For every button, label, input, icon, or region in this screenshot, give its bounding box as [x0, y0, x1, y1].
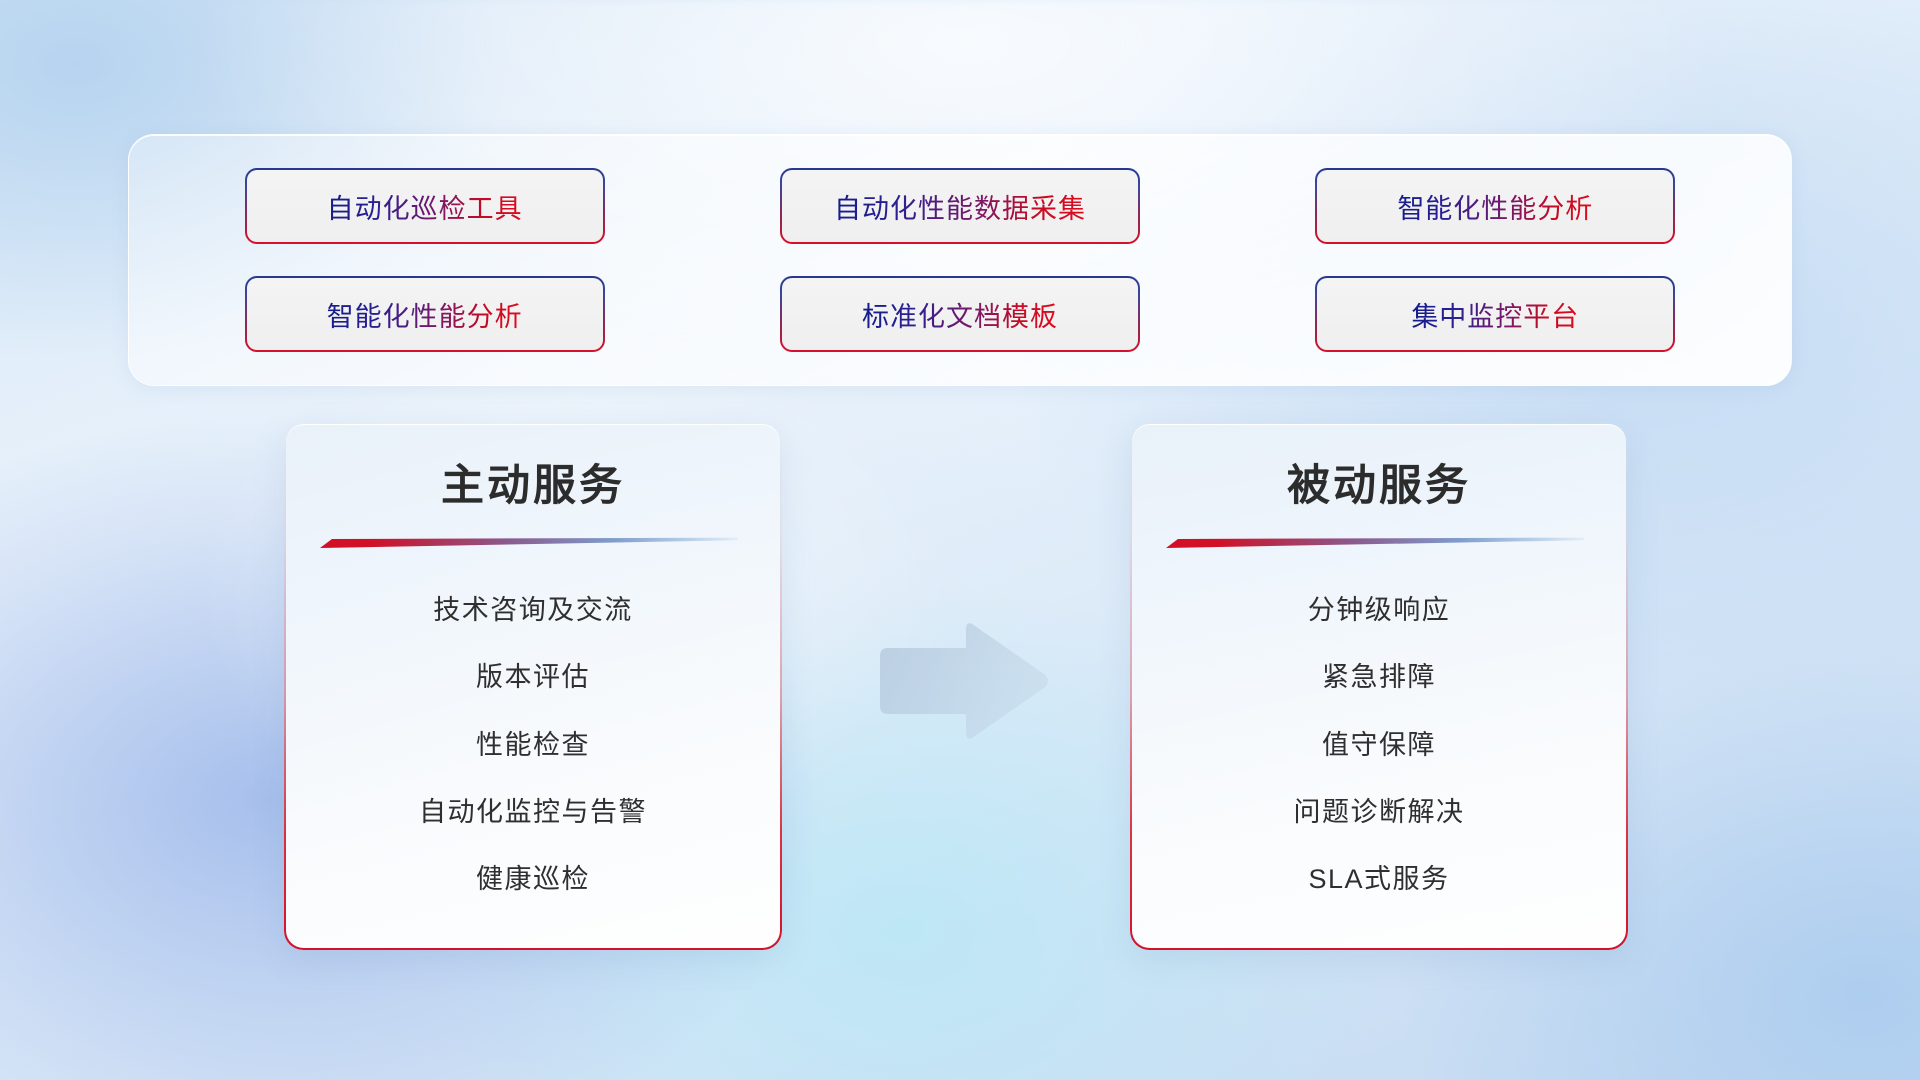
- card-divider: [1166, 534, 1584, 549]
- list-item[interactable]: 值守保障: [1166, 729, 1592, 763]
- right-arrow-icon: [874, 618, 1054, 746]
- list-item[interactable]: 性能检查: [320, 729, 746, 763]
- list-item[interactable]: 健康巡检: [320, 863, 746, 897]
- pill-label: 自动化巡检工具: [327, 187, 523, 226]
- card-title: 主动服务: [320, 462, 746, 512]
- service-item-list: 分钟级响应 紧急排障 值守保障 问题诊断解决 SLA式服务: [1166, 577, 1592, 922]
- diagram-stage: 自动化巡检工具 自动化性能数据采集 智能化性能分析 智能化性能分析 标准化文档模…: [0, 0, 1920, 1080]
- list-item[interactable]: SLA式服务: [1166, 863, 1592, 897]
- card-title: 被动服务: [1166, 462, 1592, 512]
- pill-intelligent-perf-analysis-a[interactable]: 智能化性能分析: [1317, 170, 1673, 242]
- pill-auto-perf-data-collection[interactable]: 自动化性能数据采集: [782, 170, 1138, 242]
- list-item[interactable]: 分钟级响应: [1166, 594, 1592, 628]
- list-item[interactable]: 版本评估: [320, 661, 746, 695]
- pill-label: 智能化性能分析: [327, 295, 523, 334]
- pill-centralized-monitoring[interactable]: 集中监控平台: [1317, 278, 1673, 350]
- pill-label: 集中监控平台: [1411, 295, 1579, 334]
- pill-intelligent-perf-analysis-b[interactable]: 智能化性能分析: [247, 278, 603, 350]
- list-item[interactable]: 技术咨询及交流: [320, 594, 746, 628]
- service-card-reactive: 被动服务 分钟级响应 紧急排障 值守保障: [1132, 424, 1626, 948]
- pill-standard-doc-template[interactable]: 标准化文档模板: [782, 278, 1138, 350]
- pill-auto-inspection-tool[interactable]: 自动化巡检工具: [247, 170, 603, 242]
- pill-label: 自动化性能数据采集: [834, 187, 1086, 226]
- capability-panel: 自动化巡检工具 自动化性能数据采集 智能化性能分析 智能化性能分析 标准化文档模…: [128, 134, 1792, 386]
- list-item[interactable]: 紧急排障: [1166, 661, 1592, 695]
- pill-label: 标准化文档模板: [862, 295, 1058, 334]
- service-item-list: 技术咨询及交流 版本评估 性能检查 自动化监控与告警 健康巡检: [320, 577, 746, 922]
- service-card-proactive: 主动服务 技术咨询及交流 版本评估 性能检查: [286, 424, 780, 948]
- list-item[interactable]: 自动化监控与告警: [320, 796, 746, 830]
- list-item[interactable]: 问题诊断解决: [1166, 796, 1592, 830]
- pill-label: 智能化性能分析: [1397, 187, 1593, 226]
- card-divider: [320, 534, 738, 549]
